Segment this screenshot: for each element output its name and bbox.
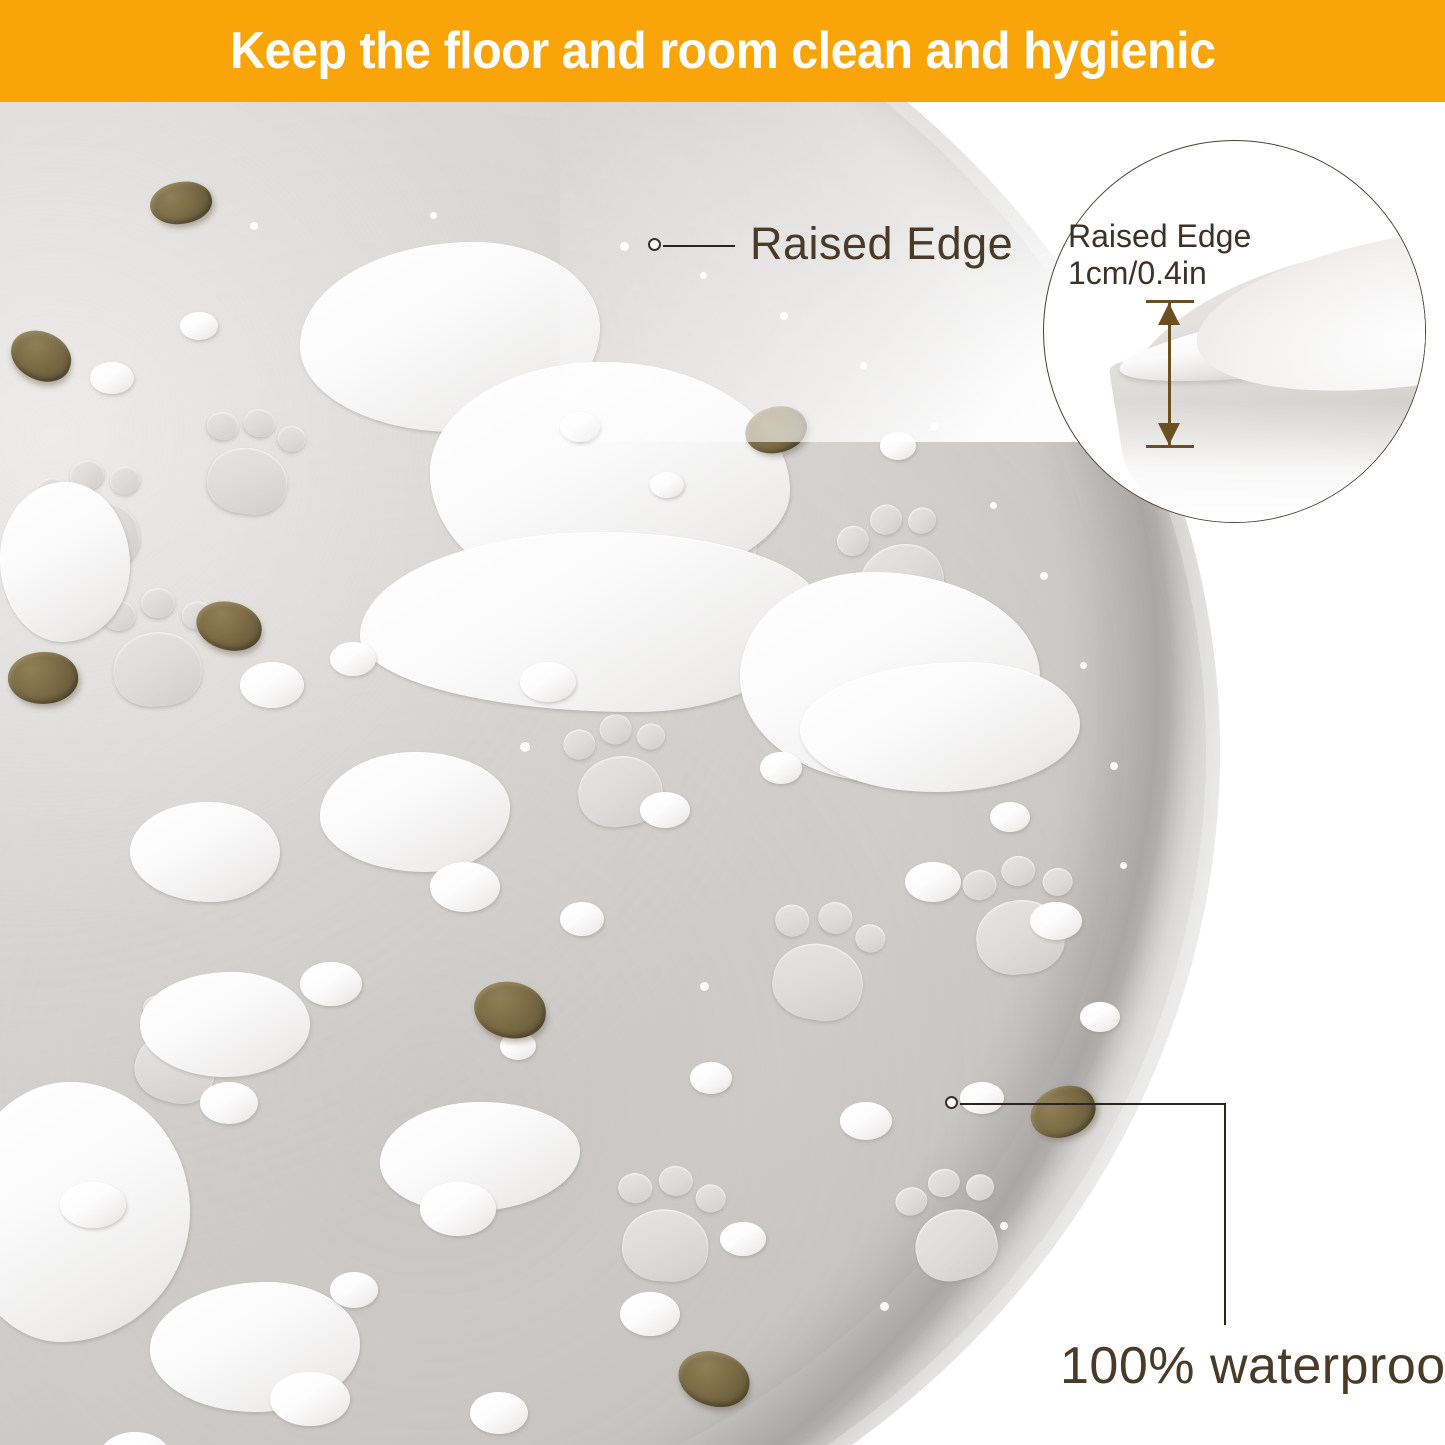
- water-speck: [1040, 572, 1048, 580]
- dimension-arrowhead-down-icon: [1158, 423, 1180, 445]
- water-blob: [320, 752, 510, 872]
- water-speck: [1000, 1222, 1008, 1230]
- water-speck: [860, 362, 867, 369]
- water-speck: [990, 502, 997, 509]
- water-speck: [700, 982, 709, 991]
- inset-caption-measurement: 1cm/0.4in: [1068, 255, 1251, 292]
- water-droplet: [180, 312, 218, 340]
- water-droplet: [330, 1272, 378, 1308]
- waterproof-label: 100% waterproof: [1060, 1336, 1445, 1396]
- water-droplet: [640, 792, 690, 828]
- headline-text: Keep the floor and room clean and hygien…: [230, 21, 1215, 81]
- water-speck: [430, 212, 437, 219]
- water-droplet: [430, 862, 500, 912]
- inset-caption-title: Raised Edge: [1068, 218, 1251, 255]
- water-speck: [250, 222, 258, 230]
- waterproof-leader-line-vertical: [1224, 1103, 1226, 1325]
- water-speck: [620, 242, 629, 251]
- water-droplet: [560, 902, 604, 936]
- water-droplet: [960, 1082, 1004, 1114]
- water-speck: [880, 1302, 889, 1311]
- water-droplet: [880, 432, 916, 460]
- water-blob: [140, 972, 310, 1077]
- water-droplet: [905, 862, 961, 902]
- raised-edge-marker-dot: [648, 238, 661, 251]
- water-droplet: [330, 642, 376, 676]
- water-droplet: [560, 412, 600, 442]
- water-droplet: [300, 962, 362, 1006]
- water-speck: [700, 272, 707, 279]
- water-droplet: [470, 1392, 528, 1434]
- water-droplet: [760, 752, 802, 784]
- water-droplet: [720, 1222, 766, 1256]
- water-speck: [520, 742, 530, 752]
- water-droplet: [520, 662, 576, 702]
- water-droplet: [90, 362, 134, 394]
- raised-edge-detail-inset: [1043, 140, 1426, 523]
- water-speck: [930, 422, 939, 431]
- water-droplet: [650, 472, 684, 498]
- water-droplet: [620, 1292, 680, 1336]
- water-droplet: [840, 1102, 892, 1140]
- product-infographic: Keep the floor and room clean and hygien…: [0, 0, 1445, 1445]
- water-blob: [130, 802, 280, 902]
- dimension-arrow: [1146, 300, 1194, 448]
- water-droplet: [990, 802, 1030, 832]
- water-speck: [780, 312, 788, 320]
- water-droplet: [690, 1062, 732, 1094]
- water-droplet: [1080, 1002, 1120, 1032]
- water-droplet: [240, 662, 304, 708]
- waterproof-leader-line-horizontal: [960, 1103, 1225, 1105]
- water-droplet: [270, 1372, 350, 1426]
- raised-edge-leader-line: [663, 245, 735, 247]
- water-droplet: [60, 1182, 126, 1228]
- water-speck: [1120, 862, 1127, 869]
- water-speck: [1080, 662, 1087, 669]
- headline-banner: Keep the floor and room clean and hygien…: [0, 0, 1445, 102]
- inset-bottom-fade: [1044, 402, 1425, 522]
- water-blob: [0, 482, 130, 642]
- water-droplet: [1030, 902, 1082, 940]
- waterproof-marker-dot: [945, 1096, 958, 1109]
- water-droplet: [420, 1182, 496, 1236]
- raised-edge-label: Raised Edge: [750, 218, 1013, 270]
- water-speck: [1110, 762, 1118, 770]
- inset-caption: Raised Edge 1cm/0.4in: [1068, 218, 1251, 292]
- dimension-cap-bottom: [1146, 445, 1194, 448]
- water-droplet: [200, 1082, 258, 1124]
- dimension-arrowhead-up-icon: [1158, 303, 1180, 325]
